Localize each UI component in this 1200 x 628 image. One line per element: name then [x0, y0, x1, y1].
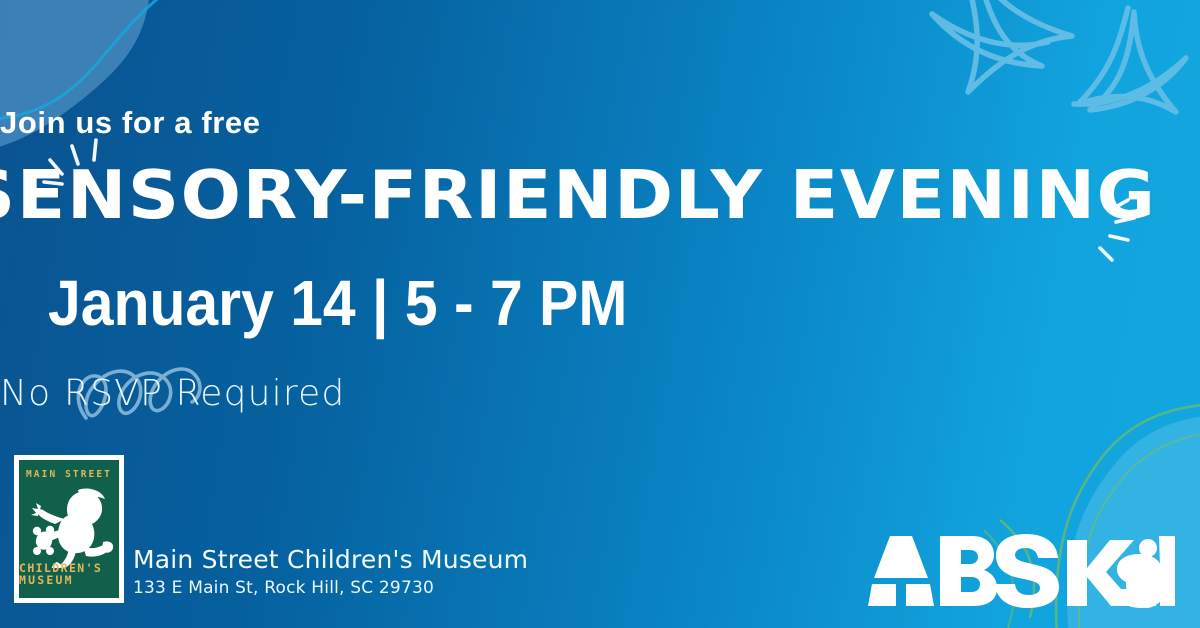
doodle-star-1-icon	[932, 0, 1072, 92]
museum-logo-line-2: MUSEUM	[19, 574, 119, 586]
museum-logo-top-text: MAIN STREET	[26, 469, 112, 480]
abs-logo-letter-a	[874, 536, 928, 578]
blob-top-left-curve	[0, 0, 175, 120]
museum-logo-bottom-text: CHILDREN'S MUSEUM	[19, 562, 119, 586]
event-datetime: January 14 | 5 - 7 PM	[48, 266, 1152, 340]
museum-logo-plate: MAIN STREET	[19, 460, 119, 598]
venue-name: Main Street Children's Museum	[133, 545, 528, 574]
promotional-flyer: Join us for a free SENSORY-FRIENDLY EVEN…	[0, 0, 1200, 628]
venue-address: 133 E Main St, Rock Hill, SC 29730	[133, 578, 528, 598]
museum-logo-line-1: CHILDREN'S	[19, 562, 119, 574]
abs-logo-letter-s	[995, 534, 1059, 608]
running-child-icon	[23, 486, 115, 568]
kicker-text: Join us for a free	[0, 105, 1200, 141]
museum-logo: MAIN STREET	[14, 455, 124, 603]
page-title: SENSORY-FRIENDLY EVENING	[0, 156, 1200, 234]
rsvp-note: No RSVP Required	[0, 373, 1200, 414]
abs-logo-letter-s2	[1116, 554, 1164, 608]
doodle-star-2-icon	[1074, 8, 1186, 112]
abs-kids-logo	[868, 532, 1178, 610]
venue-info: Main Street Children's Museum 133 E Main…	[133, 545, 528, 598]
abs-logo-letter-b	[940, 536, 997, 606]
